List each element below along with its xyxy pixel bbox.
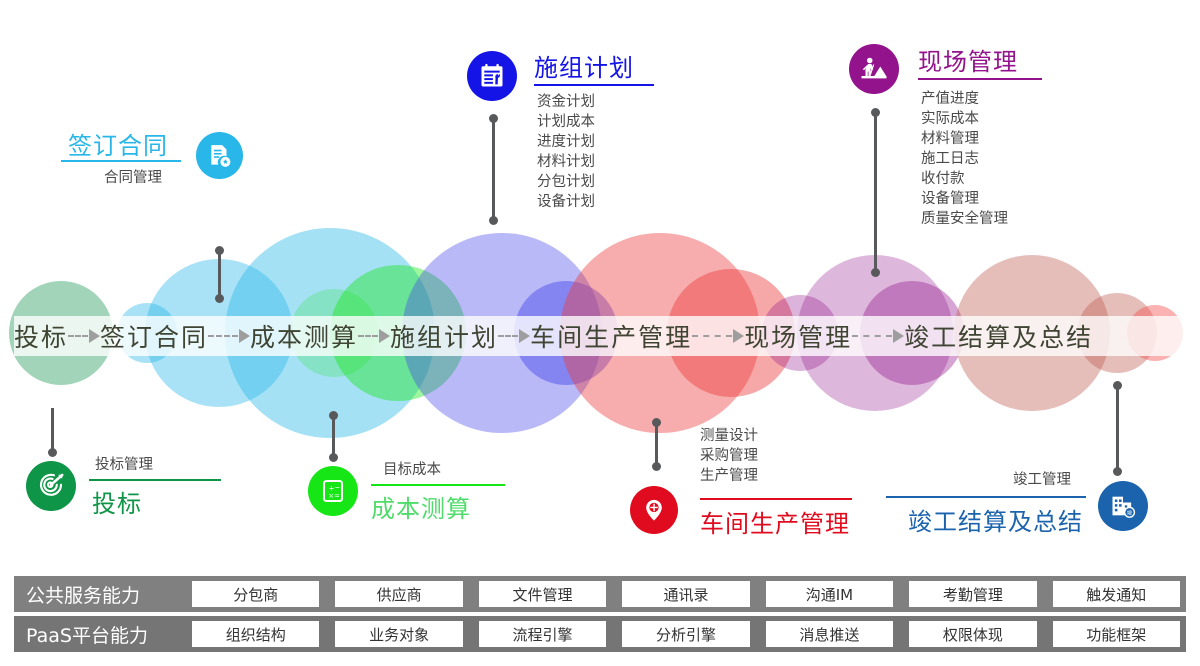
table-cell[interactable]: 通讯录	[622, 581, 749, 607]
table-cell[interactable]: 文件管理	[479, 581, 606, 607]
callout-title-workshop: 车间生产管理	[700, 504, 850, 539]
callout-rule-workshop	[700, 498, 852, 500]
callout-sub-bid: 投标管理	[95, 453, 153, 474]
callout-items-site: 产值进度实际成本材料管理施工日志收付款设备管理质量安全管理	[921, 89, 1008, 229]
timeline-arrow-3	[498, 329, 530, 343]
callout-rule-site	[918, 78, 1042, 80]
timeline-stage-1[interactable]: 签订合同	[100, 318, 208, 354]
callout-items-plan: 资金计划计划成本进度计划材料计划分包计划设备计划	[537, 92, 595, 212]
callout-item: 实际成本	[921, 109, 1008, 129]
timeline-arrow-1	[208, 329, 250, 343]
callout-item: 材料管理	[921, 129, 1008, 149]
callout-rule-cost	[371, 484, 505, 486]
table-cell[interactable]: 供应商	[335, 581, 462, 607]
timeline-stage-2[interactable]: 成本测算	[250, 318, 358, 354]
callout-rule-contract	[61, 160, 181, 162]
callout-item: 测量设计	[700, 426, 758, 446]
table-cell[interactable]: 沟通IM	[766, 581, 893, 607]
timeline-arrow-4	[692, 329, 744, 343]
timeline-arrow-0	[68, 329, 100, 343]
callout-sub-completion: 竣工管理	[1013, 468, 1071, 489]
callout-item: 收付款	[921, 169, 1008, 189]
callout-title-bid: 投标	[92, 484, 142, 519]
callout-title-site: 现场管理	[918, 42, 1018, 77]
table-cell[interactable]: 触发通知	[1053, 581, 1180, 607]
svg-text:−: −	[334, 483, 340, 492]
callout-item: 施工日志	[921, 149, 1008, 169]
target-dart-icon	[26, 461, 76, 511]
timeline: 投标签订合同成本测算施组计划车间生产管理现场管理竣工结算及总结	[14, 316, 1186, 356]
timeline-stage-4[interactable]: 车间生产管理	[530, 318, 692, 354]
callout-item: 生产管理	[700, 466, 758, 486]
callout-sub-contract: 合同管理	[104, 166, 162, 187]
table-cells: 组织结构业务对象流程引擎分析引擎消息推送权限体现功能框架	[192, 621, 1186, 647]
infographic-canvas: 投标签订合同成本测算施组计划车间生产管理现场管理竣工结算及总结 签订合同 合同管…	[0, 0, 1200, 666]
callout-items-workshop: 测量设计采购管理生产管理	[700, 426, 758, 486]
calculator-icon: + − × =	[308, 466, 358, 516]
callout-sub-cost: 目标成本	[383, 458, 441, 479]
callout-item: 产值进度	[921, 89, 1008, 109]
contract-document-icon	[196, 132, 243, 179]
table-cell[interactable]: 分析引擎	[622, 621, 749, 647]
location-pin-icon	[630, 486, 678, 534]
callout-title-cost: 成本测算	[371, 489, 471, 524]
table-row-label: 公共服务能力	[14, 581, 192, 608]
callout-item: 设备计划	[537, 192, 595, 212]
callout-rule-plan	[534, 84, 654, 86]
callout-item: 进度计划	[537, 132, 595, 152]
table-row-public-service: 公共服务能力 分包商供应商文件管理通讯录沟通IM考勤管理触发通知	[14, 576, 1186, 612]
clipboard-wrench-icon	[467, 51, 517, 101]
building-badge-icon: 竣	[1098, 481, 1148, 531]
callout-item: 分包计划	[537, 172, 595, 192]
timeline-arrow-5	[852, 329, 904, 343]
table-row-paas: PaaS平台能力 组织结构业务对象流程引擎分析引擎消息推送权限体现功能框架	[14, 616, 1186, 652]
callout-item: 采购管理	[700, 446, 758, 466]
svg-text:竣: 竣	[1127, 509, 1133, 517]
table-cell[interactable]: 功能框架	[1053, 621, 1180, 647]
table-cell[interactable]: 权限体现	[909, 621, 1036, 647]
callout-rule-bid	[89, 479, 221, 481]
table-cell[interactable]: 消息推送	[766, 621, 893, 647]
callout-title-plan: 施组计划	[534, 48, 634, 83]
timeline-stage-3[interactable]: 施组计划	[390, 318, 498, 354]
svg-text:=: =	[334, 492, 340, 500]
callout-item: 质量安全管理	[921, 209, 1008, 229]
callout-item: 计划成本	[537, 112, 595, 132]
callout-item: 设备管理	[921, 189, 1008, 209]
callout-item: 材料计划	[537, 152, 595, 172]
timeline-arrow-2	[358, 329, 390, 343]
table-cell[interactable]: 考勤管理	[909, 581, 1036, 607]
construction-worker-icon	[849, 44, 899, 94]
table-row-label: PaaS平台能力	[14, 621, 192, 648]
table-cell[interactable]: 分包商	[192, 581, 319, 607]
timeline-stage-0[interactable]: 投标	[14, 318, 68, 354]
timeline-stage-5[interactable]: 现场管理	[744, 318, 852, 354]
callout-rule-completion	[886, 496, 1086, 498]
callout-title-contract: 签订合同	[68, 126, 168, 161]
table-cell[interactable]: 流程引擎	[479, 621, 606, 647]
callout-item: 资金计划	[537, 92, 595, 112]
table-cell[interactable]: 业务对象	[335, 621, 462, 647]
timeline-stage-6[interactable]: 竣工结算及总结	[904, 318, 1093, 354]
callout-title-completion: 竣工结算及总结	[908, 502, 1083, 537]
table-cells: 分包商供应商文件管理通讯录沟通IM考勤管理触发通知	[192, 581, 1186, 607]
table-cell[interactable]: 组织结构	[192, 621, 319, 647]
